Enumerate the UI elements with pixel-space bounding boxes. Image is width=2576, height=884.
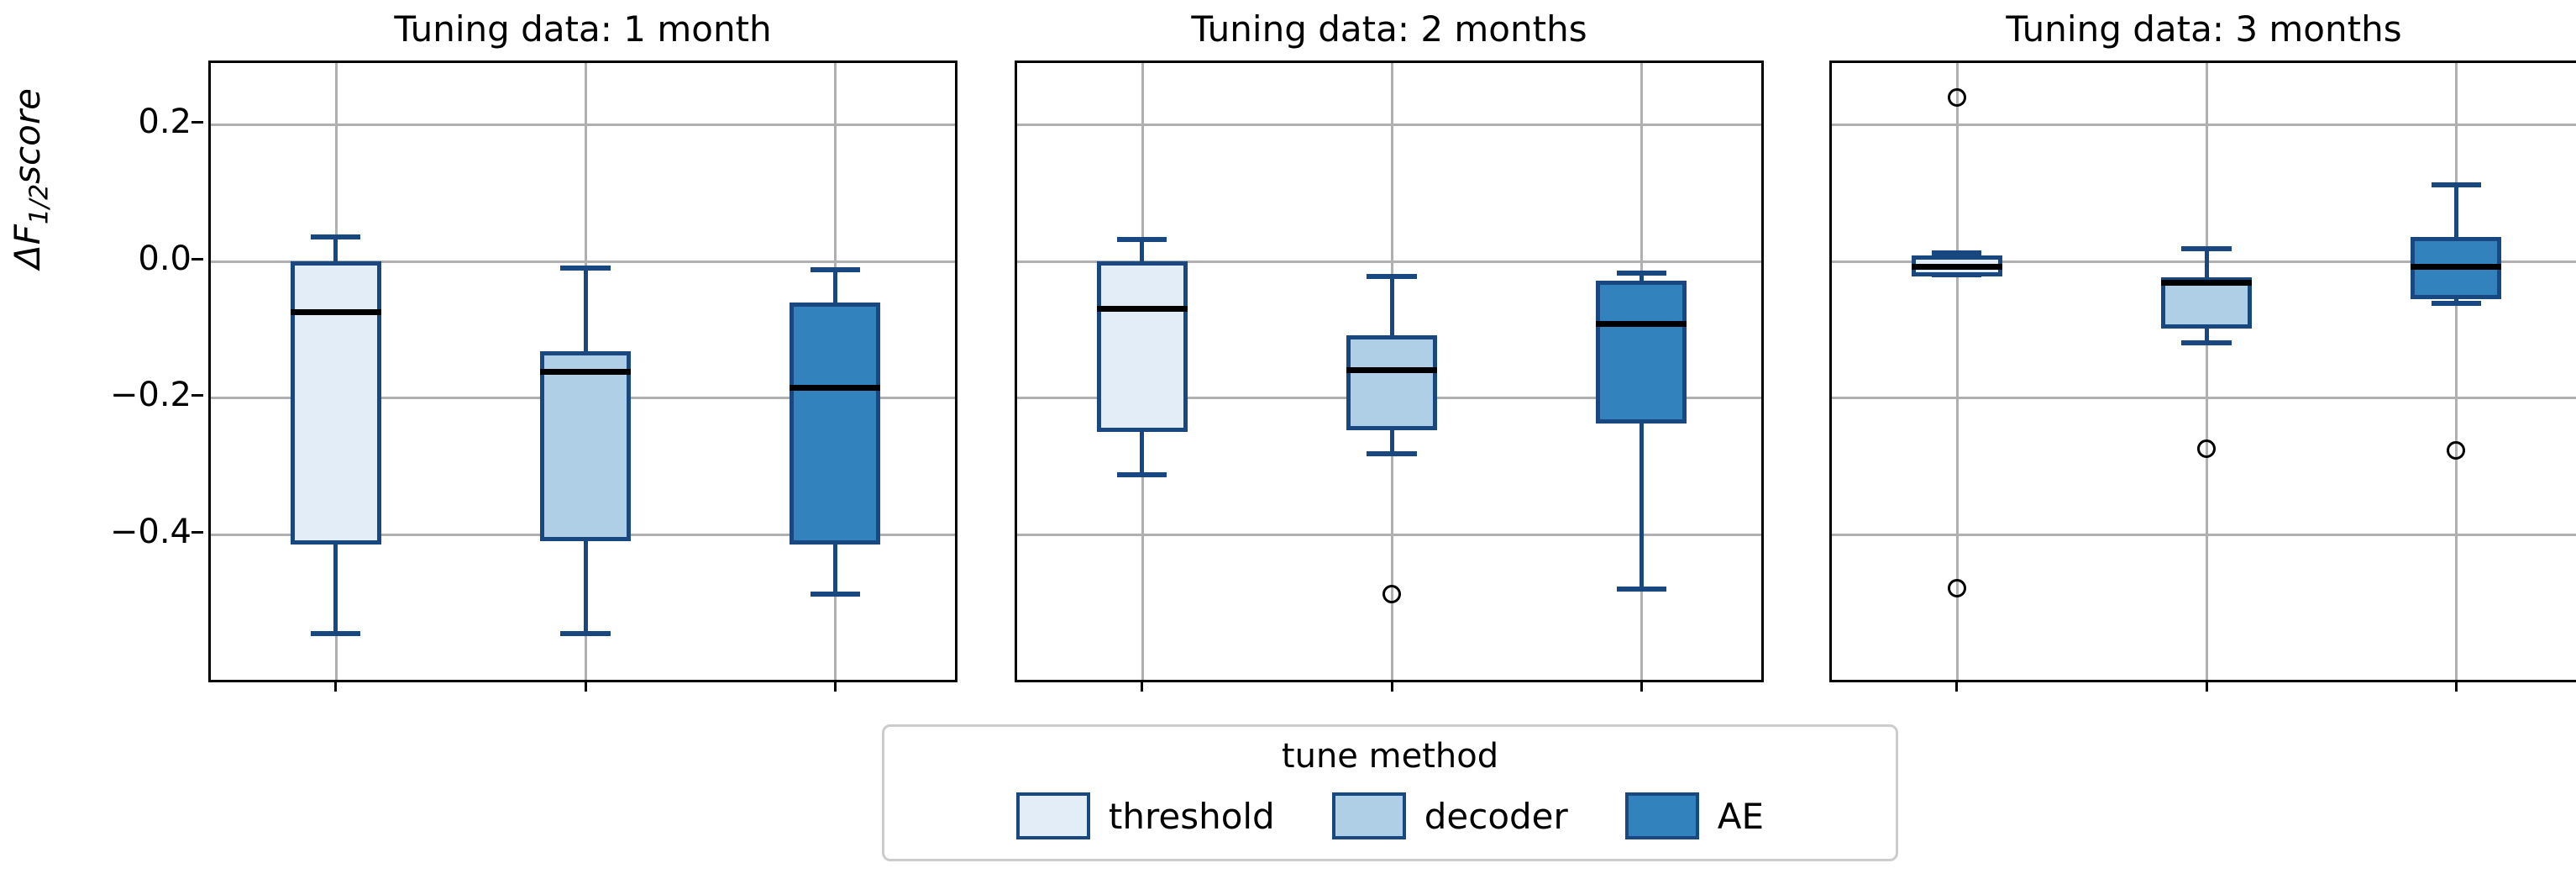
whisker-upper <box>1390 276 1394 335</box>
outlier-marker <box>1948 579 1966 597</box>
x-tick-mark <box>1391 680 1393 692</box>
panel-1: Tuning data: 1 month0.20.0−0.2−0.4 <box>208 0 957 697</box>
legend-swatch-icon <box>1625 792 1699 839</box>
x-tick-mark <box>834 680 837 692</box>
whisker-lower <box>584 541 588 634</box>
whisker-upper <box>1140 239 1144 261</box>
box-threshold <box>1097 261 1188 432</box>
whisker-upper <box>833 270 837 303</box>
x-tick-mark <box>334 680 337 692</box>
outlier-marker <box>2447 441 2465 460</box>
median-line <box>790 385 880 391</box>
outlier-marker <box>1382 585 1401 603</box>
gridline-vertical <box>2455 63 2458 680</box>
whisker-cap-upper <box>1117 237 1167 242</box>
median-line <box>2161 280 2252 286</box>
median-line <box>1912 264 2002 270</box>
x-tick-mark <box>1640 680 1643 692</box>
median-line <box>540 369 631 375</box>
plot-area <box>1829 61 2576 682</box>
y-tick-label: −0.4 <box>110 513 191 551</box>
y-tick-label: −0.2 <box>110 376 191 414</box>
whisker-upper <box>333 237 338 260</box>
whisker-cap-upper <box>311 234 360 239</box>
median-line <box>291 309 381 315</box>
x-tick-mark <box>585 680 587 692</box>
whisker-cap-lower <box>811 592 860 597</box>
outlier-marker <box>2197 439 2216 458</box>
whisker-cap-upper <box>1932 250 1981 255</box>
x-tick-mark <box>1141 680 1143 692</box>
legend-label: decoder <box>1424 796 1568 837</box>
panel-2: Tuning data: 2 months <box>1015 0 1764 697</box>
whisker-cap-upper <box>1617 271 1666 276</box>
y-tick-label: 0.2 <box>138 103 191 141</box>
plot-inner <box>211 63 955 680</box>
legend-label: AE <box>1718 796 1764 837</box>
gridline-horizontal <box>1017 124 1761 126</box>
gridline-horizontal <box>1017 534 1761 536</box>
gridline-horizontal <box>211 124 955 126</box>
panel-title: Tuning data: 3 months <box>1829 8 2576 50</box>
x-tick-mark <box>2206 680 2208 692</box>
gridline-horizontal <box>1832 124 2576 126</box>
whisker-cap-lower <box>2181 340 2231 345</box>
legend-entry-threshold[interactable]: threshold <box>1016 792 1275 839</box>
whisker-cap-lower <box>1367 451 1416 456</box>
whisker-upper <box>584 268 588 351</box>
whisker-cap-upper <box>560 266 610 271</box>
x-tick-mark <box>1955 680 1958 692</box>
whisker-cap-upper <box>811 267 860 272</box>
y-tick-mark <box>191 258 203 260</box>
box-decoder <box>1346 335 1437 431</box>
gridline-vertical <box>2206 63 2208 680</box>
outlier-marker <box>1948 88 1966 107</box>
median-line <box>1596 321 1687 327</box>
legend-label: threshold <box>1109 796 1275 837</box>
gridline-horizontal <box>1832 534 2576 536</box>
whisker-cap-lower <box>1617 587 1666 592</box>
whisker-cap-lower <box>560 631 610 636</box>
legend: tune method thresholddecoderAE <box>882 724 1898 861</box>
y-tick-mark <box>191 394 203 397</box>
y-axis-tick-labels: 0.20.0−0.2−0.4 <box>24 61 191 682</box>
legend-entries: thresholddecoderAE <box>884 792 1896 839</box>
legend-swatch-icon <box>1016 792 1090 839</box>
whisker-upper <box>2454 185 2458 238</box>
whisker-upper <box>2205 249 2209 277</box>
whisker-cap-lower <box>311 631 360 636</box>
plot-inner <box>1017 63 1761 680</box>
plot-area <box>1015 61 1764 682</box>
box-threshold <box>291 261 381 545</box>
panel-title: Tuning data: 2 months <box>1015 8 1764 50</box>
y-tick-mark <box>191 121 203 124</box>
legend-title: tune method <box>884 737 1896 776</box>
y-tick-mark <box>191 531 203 534</box>
plot-area <box>208 61 957 682</box>
x-tick-mark <box>2455 680 2458 692</box>
whisker-cap-lower <box>2432 301 2481 306</box>
plot-inner <box>1832 63 2576 680</box>
gridline-horizontal <box>1832 397 2576 399</box>
whisker-lower <box>833 545 837 594</box>
legend-swatch-icon <box>1332 792 1406 839</box>
box-AE <box>1596 281 1687 424</box>
box-AE <box>790 303 880 545</box>
whisker-cap-upper <box>2432 182 2481 187</box>
whisker-cap-lower <box>1117 472 1167 477</box>
whisker-cap-upper <box>1367 274 1416 279</box>
median-line <box>1346 367 1437 373</box>
panel-title: Tuning data: 1 month <box>208 8 957 50</box>
whisker-lower <box>1640 424 1644 589</box>
whisker-lower <box>333 545 338 634</box>
whisker-cap-upper <box>2181 246 2231 251</box>
whisker-lower <box>1140 432 1144 474</box>
boxplot-figure: ΔF1/2score Tuning data: 1 month0.20.0−0.… <box>0 0 2576 884</box>
legend-entry-decoder[interactable]: decoder <box>1332 792 1568 839</box>
median-line <box>2411 264 2501 270</box>
whisker-lower <box>1390 430 1394 454</box>
legend-entry-AE[interactable]: AE <box>1625 792 1764 839</box>
median-line <box>1097 306 1188 312</box>
box-decoder <box>540 351 631 541</box>
panel-3: Tuning data: 3 months <box>1829 0 2576 697</box>
y-tick-label: 0.0 <box>138 239 191 278</box>
